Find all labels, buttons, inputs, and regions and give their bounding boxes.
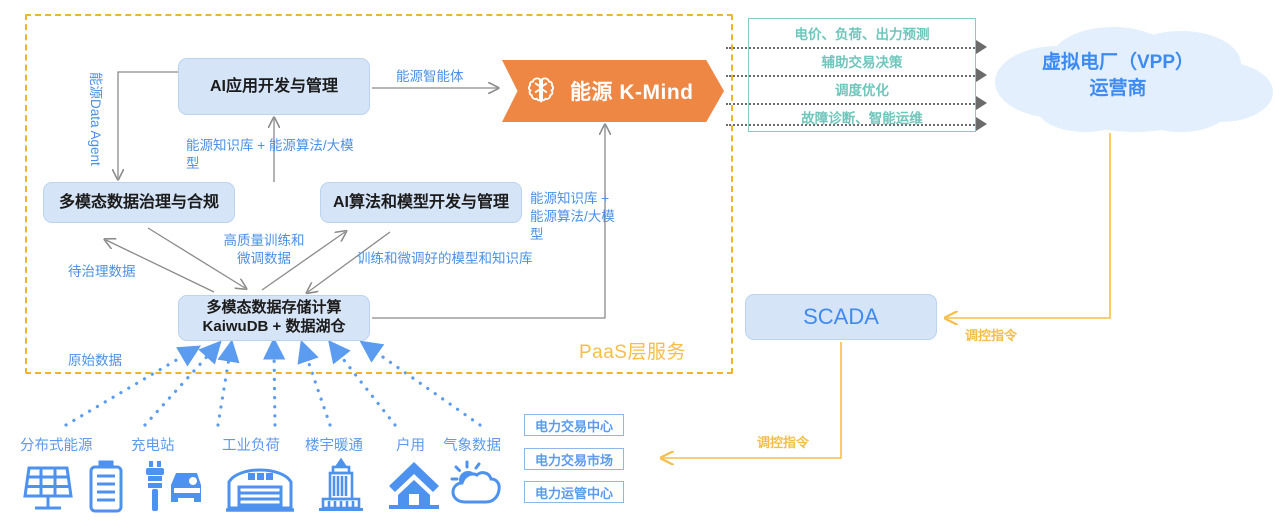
source-label-building-hvac: 楼宇暖通 (305, 434, 363, 455)
brain-icon (524, 74, 558, 108)
source-label-distributed-energy: 分布式能源 (20, 434, 93, 455)
source-label-weather-data: 气象数据 (443, 434, 501, 455)
ev-charger-icon (141, 458, 203, 514)
edge-label-training-data: 高质量训练和微调数据 (221, 232, 307, 268)
box-power-trading-center[interactable]: 电力交易中心 (524, 414, 624, 436)
energy-kmind-node[interactable]: 能源 K-Mind (502, 60, 724, 122)
box-power-operation-center[interactable]: 电力运管中心 (524, 481, 624, 503)
capability-row: 调度优化 (749, 75, 975, 103)
edge-label-kb-algo-1: 能源知识库 + 能源算法/大模型 (186, 137, 366, 173)
capability-rail (726, 47, 978, 49)
capability-row: 故障诊断、智能运维 (749, 103, 975, 131)
edge-label-raw-data: 原始数据 (68, 352, 122, 370)
vpp-line-1: 虚拟电厂（VPP） (1003, 50, 1233, 76)
vpp-operator-label: 虚拟电厂（VPP） 运营商 (1003, 50, 1233, 101)
edge-label-trained-model: 训练和微调好的模型和知识库 (357, 250, 533, 268)
architecture-diagram: PaaS层服务 AI应用开发与管理 多模态数据治理与合规 AI算法和模型开发与管… (0, 0, 1280, 530)
box-data-governance[interactable]: 多模态数据治理与合规 (43, 182, 235, 223)
box-power-trading-market[interactable]: 电力交易市场 (524, 448, 624, 470)
edge-label-kb-algo-2: 能源知识库 + 能源算法/大模型 (530, 190, 620, 245)
battery-icon (87, 460, 125, 514)
capability-label: 调度优化 (833, 79, 891, 99)
capability-rail (726, 103, 978, 105)
paas-layer-label: PaaS层服务 (575, 337, 690, 364)
weather-cloud-icon (448, 458, 502, 510)
kmind-label: 能源 K-Mind (570, 76, 693, 106)
capability-label: 辅助交易决策 (820, 51, 905, 71)
storage-line-2: KaiwuDB + 数据湖仓 (203, 318, 346, 337)
factory-icon (226, 462, 294, 512)
capability-row: 辅助交易决策 (749, 47, 975, 75)
source-label-residential: 户用 (396, 434, 425, 455)
edge-label-dispatch-1: 调控指令 (965, 325, 1017, 344)
edge-label-dispatch-2: 调控指令 (757, 432, 809, 451)
edge-label-agent: 能源Data Agent (86, 72, 104, 166)
office-building-icon (316, 458, 366, 512)
capability-label: 故障诊断、智能运维 (799, 107, 925, 127)
source-label-charging-station: 充电站 (131, 434, 175, 455)
capability-rail (726, 75, 978, 77)
solar-panel-icon (23, 462, 73, 514)
storage-line-1: 多模态数据存储计算 (206, 299, 341, 318)
box-multimodal-storage[interactable]: 多模态数据存储计算 KaiwuDB + 数据湖仓 (178, 295, 370, 341)
capability-row: 电价、负荷、出力预测 (749, 19, 975, 47)
house-icon (388, 460, 440, 510)
edge-label-to-govern: 待治理数据 (68, 263, 136, 281)
vpp-line-2: 运营商 (1003, 76, 1233, 102)
box-scada[interactable]: SCADA (745, 294, 937, 340)
edge-label-intelligent-body: 能源智能体 (396, 68, 464, 86)
capability-label: 电价、负荷、出力预测 (793, 23, 932, 43)
box-ai-application-dev[interactable]: AI应用开发与管理 (178, 58, 370, 115)
source-label-industrial-load: 工业负荷 (222, 434, 280, 455)
box-ai-algorithm-model[interactable]: AI算法和模型开发与管理 (320, 182, 522, 223)
